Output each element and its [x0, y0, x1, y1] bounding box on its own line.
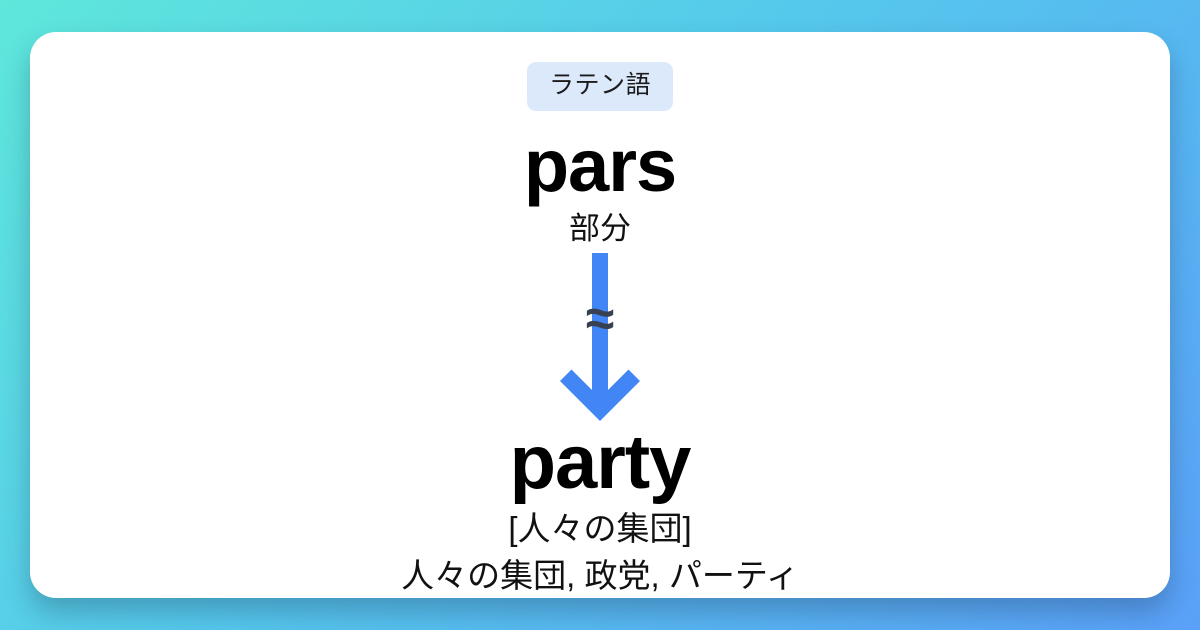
source-word-gloss: 部分 — [569, 211, 631, 247]
target-word: party — [510, 425, 691, 501]
relation-arrow: ≈ — [554, 253, 646, 421]
language-badge: ラテン語 — [527, 62, 673, 111]
source-word-block: pars 部分 — [524, 111, 676, 247]
target-word-block: party [人々の集団] 人々の集団, 政党, パーティ — [401, 421, 799, 596]
source-word: pars — [524, 129, 676, 203]
etymology-card: ラテン語 pars 部分 ≈ party [人々の集団] 人々の集団, 政党, … — [30, 32, 1170, 598]
target-word-meanings: 人々の集団, 政党, パーティ — [401, 556, 799, 596]
down-arrow-icon — [554, 253, 646, 421]
target-word-literal: [人々の集団] — [508, 509, 691, 549]
